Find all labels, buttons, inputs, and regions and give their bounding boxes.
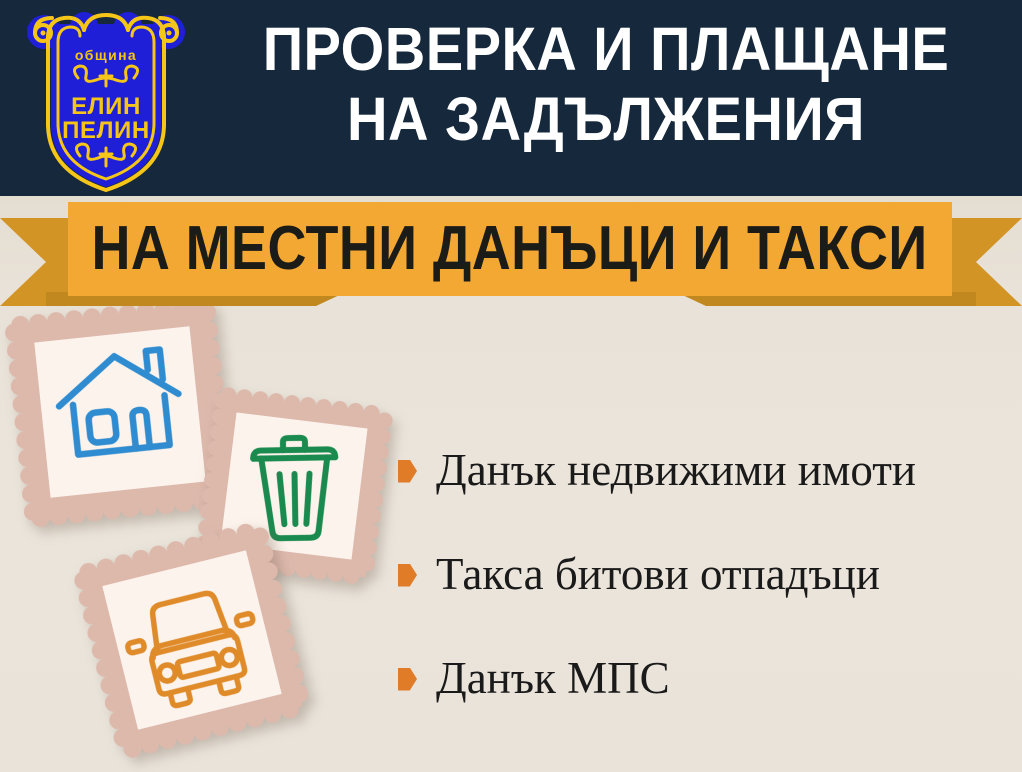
crest-text-obshtina: община	[75, 47, 137, 63]
tax-type-list: Данък недвижими имоти Такса битови отпад…	[398, 418, 1018, 730]
coat-of-arms-icon: община ЕЛИН ПЕЛИН	[22, 6, 190, 192]
list-item[interactable]: Такса битови отпадъци	[398, 522, 1018, 626]
list-item-label: Данък недвижими имоти	[436, 445, 916, 495]
crest-text-elin: ЕЛИН	[71, 93, 141, 120]
ribbon-label: НА МЕСТНИ ДАНЪЦИ И ТАКСИ	[92, 218, 928, 280]
bullet-arrow-icon	[398, 460, 417, 483]
list-item-label: Данък МПС	[436, 653, 670, 703]
bullet-arrow-icon	[398, 564, 417, 587]
list-item[interactable]: Данък МПС	[398, 626, 1018, 730]
ribbon-body: НА МЕСТНИ ДАНЪЦИ И ТАКСИ	[68, 202, 952, 296]
list-item[interactable]: Данък недвижими имоти	[398, 418, 1018, 522]
poster-canvas: община ЕЛИН ПЕЛИН ПРОВЕРКА	[0, 0, 1022, 772]
crest-text-pelin: ПЕЛИН	[62, 117, 150, 144]
bullet-arrow-icon	[398, 668, 417, 691]
list-item-label: Такса битови отпадъци	[436, 549, 880, 599]
subtitle-ribbon: НА МЕСТНИ ДАНЪЦИ И ТАКСИ	[0, 196, 1022, 316]
